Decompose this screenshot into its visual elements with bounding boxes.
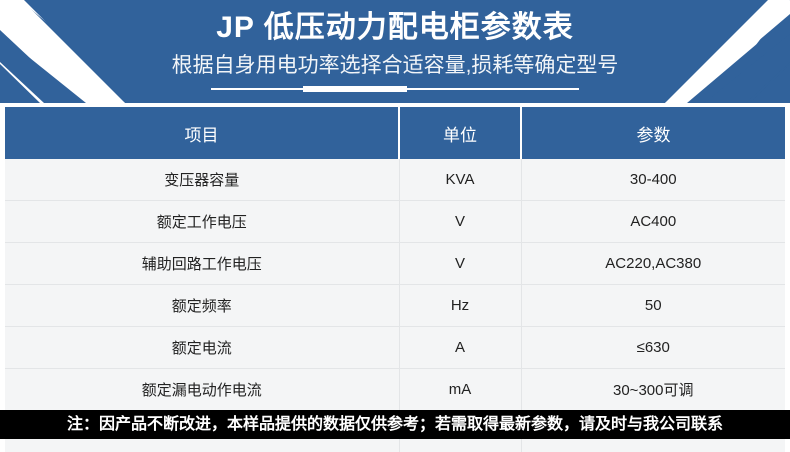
cell-unit: Hz [399, 285, 521, 327]
cell-unit: V [399, 201, 521, 243]
cell-item: 变压器容量 [5, 159, 399, 201]
cell-unit: KVA [399, 159, 521, 201]
table-row: 额定频率 Hz 50 [5, 285, 785, 327]
table-row: 变压器容量 KVA 30-400 [5, 159, 785, 201]
table-row: 额定工作电压 V AC400 [5, 201, 785, 243]
cell-unit: mA [399, 369, 521, 411]
cell-unit: V [399, 243, 521, 285]
cell-item: 额定频率 [5, 285, 399, 327]
cell-item: 额定工作电压 [5, 201, 399, 243]
title-divider-rule [211, 86, 579, 92]
page-title: JP 低压动力配电柜参数表 [0, 8, 790, 48]
cell-value: 50 [521, 285, 785, 327]
page-subtitle: 根据自身用电功率选择合适容量,损耗等确定型号 [0, 52, 790, 79]
spec-table-container: 项目 单位 参数 变压器容量 KVA 30-400 额定工作电压 V AC400… [0, 103, 790, 410]
header-banner: JP 低压动力配电柜参数表 根据自身用电功率选择合适容量,损耗等确定型号 [0, 0, 790, 103]
cell-value: AC220,AC380 [521, 243, 785, 285]
cell-unit: A [399, 327, 521, 369]
table-row: 辅助回路工作电压 V AC220,AC380 [5, 243, 785, 285]
column-header-item: 项目 [5, 107, 399, 159]
spec-table: 项目 单位 参数 变压器容量 KVA 30-400 额定工作电压 V AC400… [5, 107, 785, 452]
cell-item: 额定漏电动作电流 [5, 369, 399, 411]
cell-value: ≤630 [521, 327, 785, 369]
table-row: 额定电流 A ≤630 [5, 327, 785, 369]
table-header-row: 项目 单位 参数 [5, 107, 785, 159]
spec-table-head: 项目 单位 参数 [5, 107, 785, 159]
spec-sheet-page: JP 低压动力配电柜参数表 根据自身用电功率选择合适容量,损耗等确定型号 项目 … [0, 0, 790, 439]
footer-disclaimer-note: 注：因产品不断改进，本样品提供的数据仅供参考；若需取得最新参数，请及时与我公司联… [0, 410, 790, 439]
rule-thick-center [303, 86, 407, 92]
table-row: 额定漏电动作电流 mA 30~300可调 [5, 369, 785, 411]
spec-table-body: 变压器容量 KVA 30-400 额定工作电压 V AC400 辅助回路工作电压… [5, 159, 785, 452]
cell-item: 辅助回路工作电压 [5, 243, 399, 285]
cell-value: 30-400 [521, 159, 785, 201]
cell-item: 额定电流 [5, 327, 399, 369]
column-header-value: 参数 [521, 107, 785, 159]
column-header-unit: 单位 [399, 107, 521, 159]
cell-value: 30~300可调 [521, 369, 785, 411]
cell-value: AC400 [521, 201, 785, 243]
